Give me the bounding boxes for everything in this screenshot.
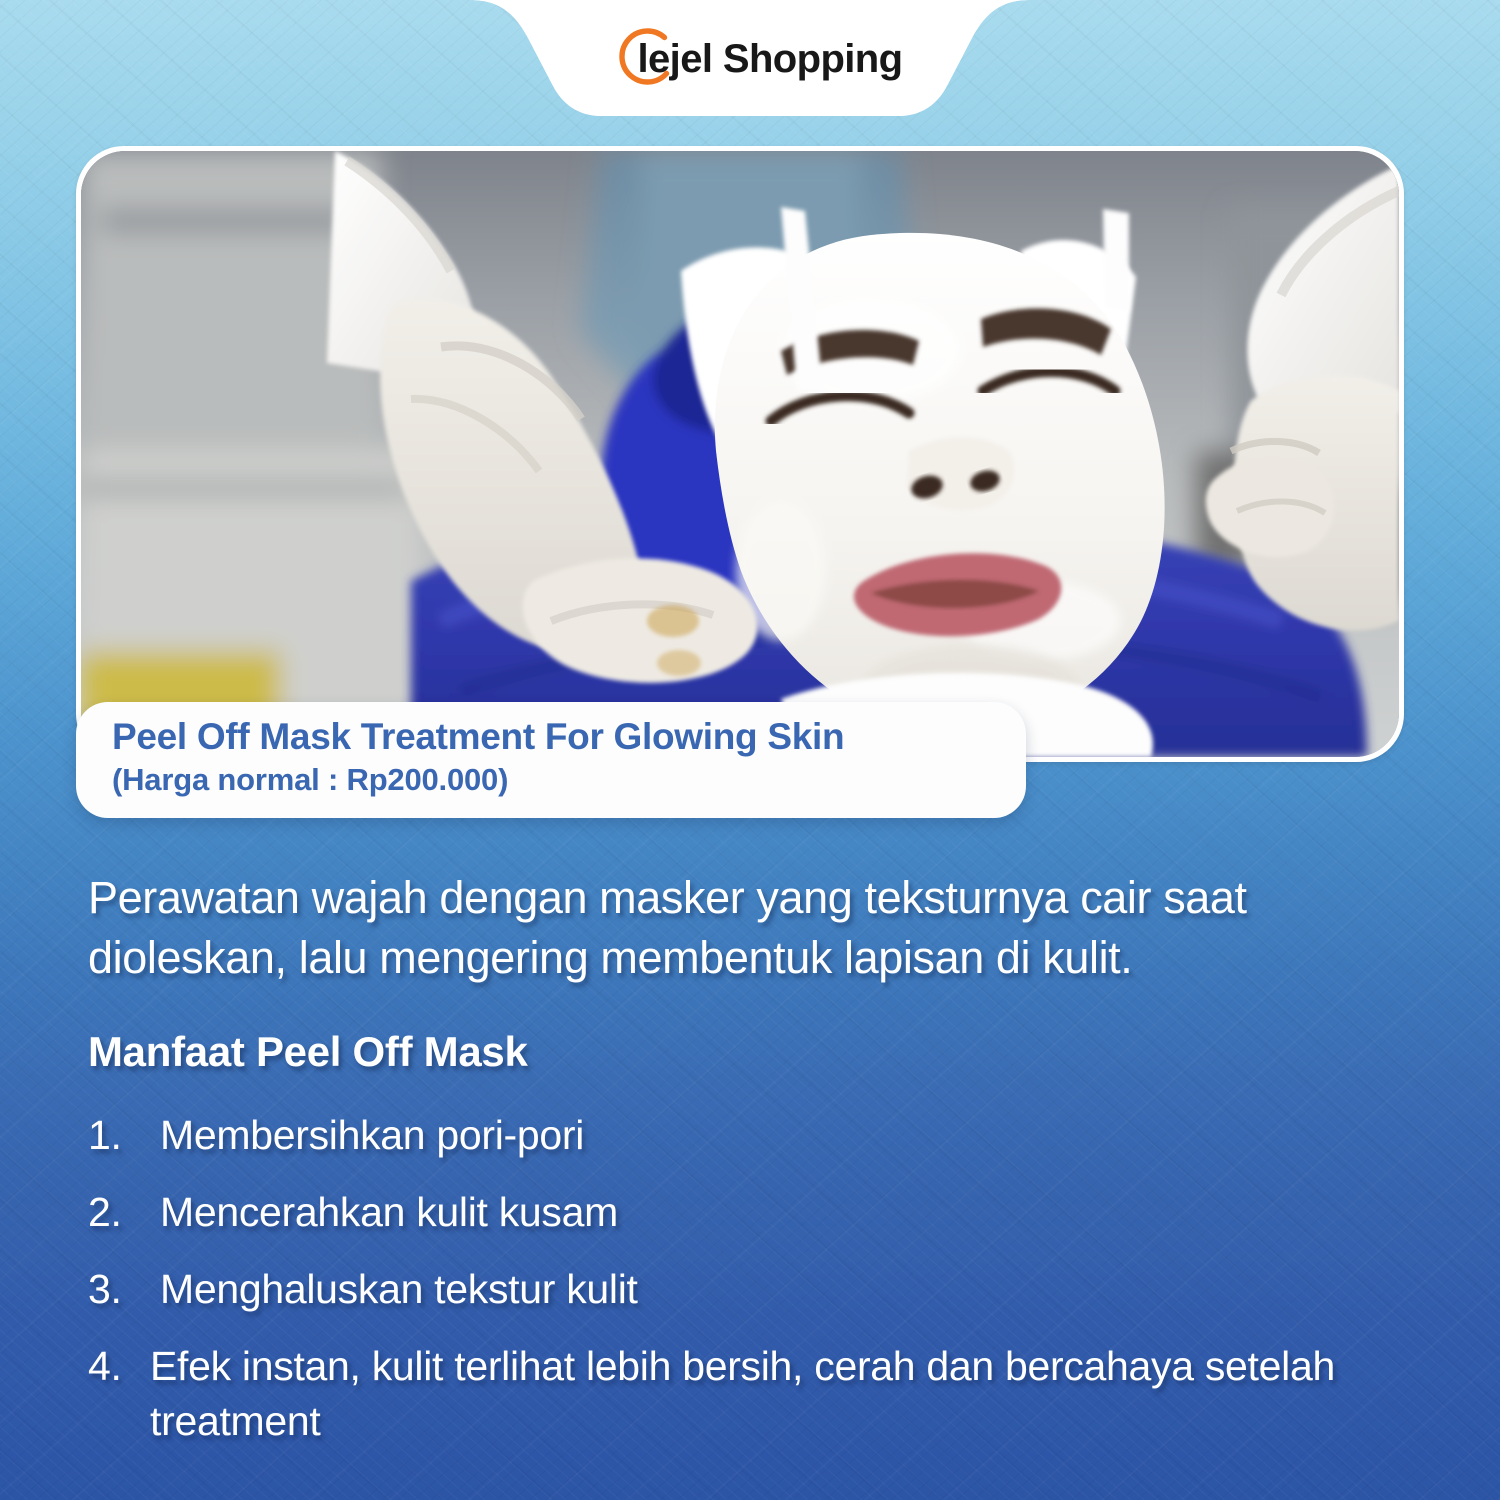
- list-item-label: Mencerahkan kulit kusam: [160, 1189, 618, 1235]
- benefits-list: 1. Membersihkan pori-pori 2. Mencerahkan…: [88, 1108, 1448, 1471]
- peel-off-mask-treatment-photo: [81, 151, 1399, 757]
- page-title: Peel Off Mask Treatment For Glowing Skin: [112, 716, 1026, 759]
- product-title-card: Peel Off Mask Treatment For Glowing Skin…: [76, 702, 1026, 818]
- list-item: 4. Efek instan, kulit terlihat lebih ber…: [88, 1339, 1448, 1449]
- list-item-label: Membersihkan pori-pori: [160, 1112, 584, 1158]
- brand-logo: lejel Shopping: [0, 0, 1500, 118]
- list-item: 3. Menghaluskan tekstur kulit: [88, 1262, 1448, 1317]
- list-item-number: 2.: [88, 1185, 148, 1240]
- list-item: 1. Membersihkan pori-pori: [88, 1108, 1448, 1163]
- list-item-number: 4.: [88, 1339, 140, 1394]
- list-item-label: Menghaluskan tekstur kulit: [160, 1266, 638, 1312]
- description-text: Perawatan wajah dengan masker yang tekst…: [88, 868, 1438, 988]
- hero-photo-card: [76, 146, 1404, 762]
- open-circle-arc-icon: [614, 26, 680, 92]
- normal-price-note: (Harga normal : Rp200.000): [112, 761, 1026, 798]
- list-item-number: 3.: [88, 1262, 148, 1317]
- list-item-label: Efek instan, kulit terlihat lebih bersih…: [150, 1343, 1335, 1444]
- list-item: 2. Mencerahkan kulit kusam: [88, 1185, 1448, 1240]
- benefits-heading: Manfaat Peel Off Mask: [88, 1028, 528, 1076]
- list-item-number: 1.: [88, 1108, 148, 1163]
- promo-poster: lejel Shopping: [0, 0, 1500, 1500]
